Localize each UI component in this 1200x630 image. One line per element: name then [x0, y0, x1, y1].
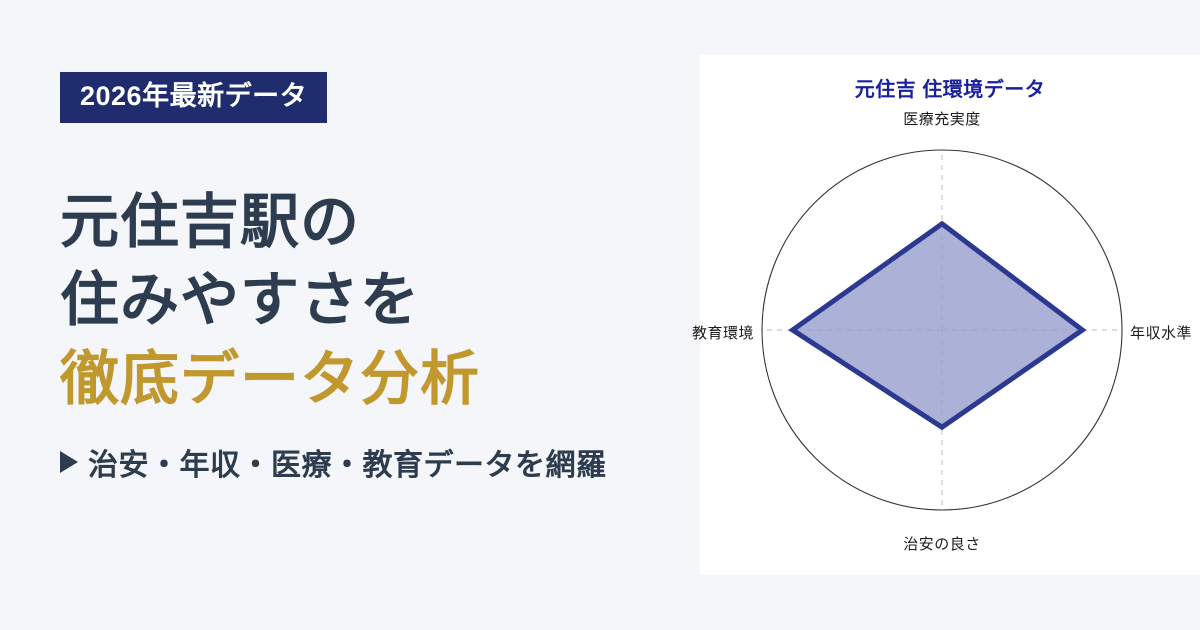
radar-data-polygon: [793, 224, 1083, 427]
poster-canvas: 2026年最新データ 元住吉駅の 住みやすさを 徹底データ分析 治安・年収・医療…: [0, 0, 1200, 630]
axis-label-income: 年収水準: [1130, 322, 1192, 343]
radar-chart-svg: [0, 0, 1200, 630]
axis-label-safety: 治安の良さ: [903, 533, 981, 554]
axis-label-education: 教育環境: [692, 322, 754, 343]
axis-label-medical: 医療充実度: [903, 108, 981, 129]
